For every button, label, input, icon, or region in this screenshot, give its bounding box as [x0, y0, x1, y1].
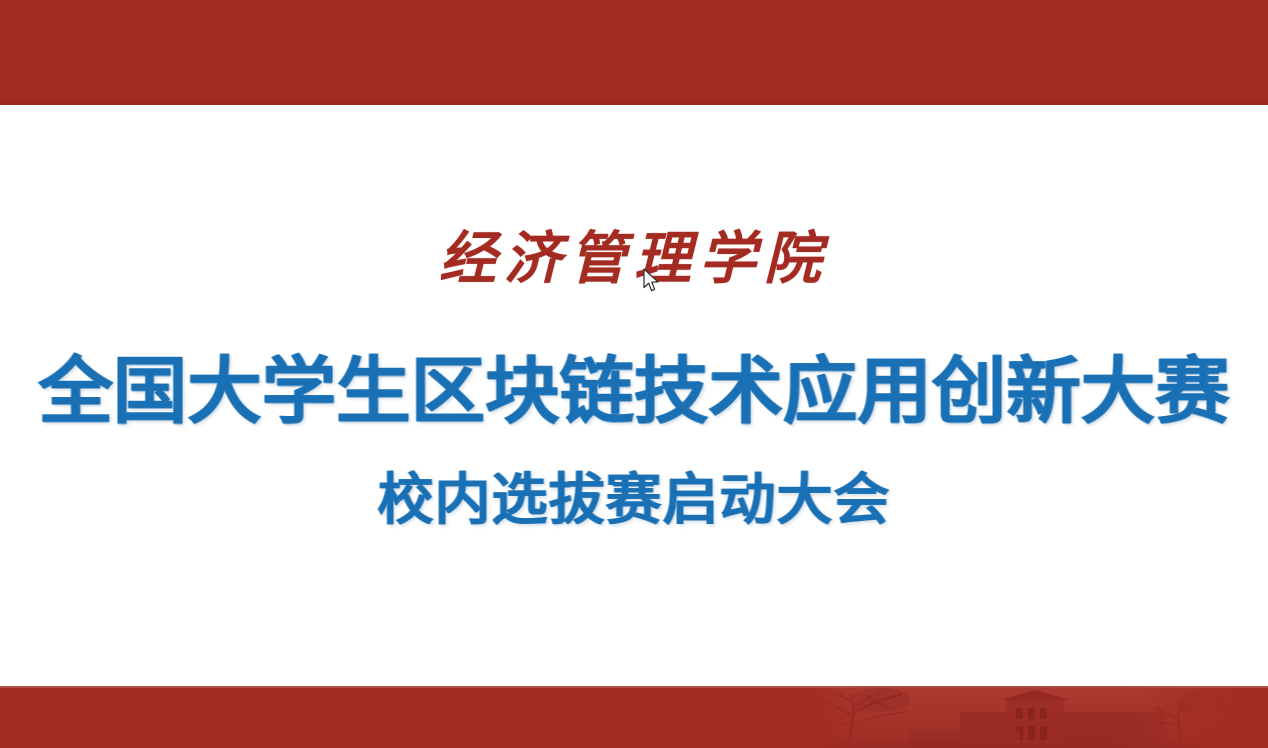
campus-photo-artwork [810, 686, 1268, 748]
presentation-slide: 经济管理学院 全国大学生区块链技术应用创新大赛 校内选拔赛启动大会 [0, 0, 1268, 748]
top-red-band [0, 0, 1268, 105]
institute-name: 经济管理学院 [0, 230, 1268, 287]
event-subtitle: 校内选拔赛启动大会 [0, 473, 1268, 529]
competition-title: 全国大学生区块链技术应用创新大赛 [0, 355, 1268, 428]
slide-body: 经济管理学院 全国大学生区块链技术应用创新大赛 校内选拔赛启动大会 [0, 105, 1268, 686]
bottom-red-bar: 长春工业大学 CHANGCHUN UNIVERSITY OF TECHNOLOG… [0, 686, 1268, 748]
campus-building-photo [810, 686, 1268, 748]
